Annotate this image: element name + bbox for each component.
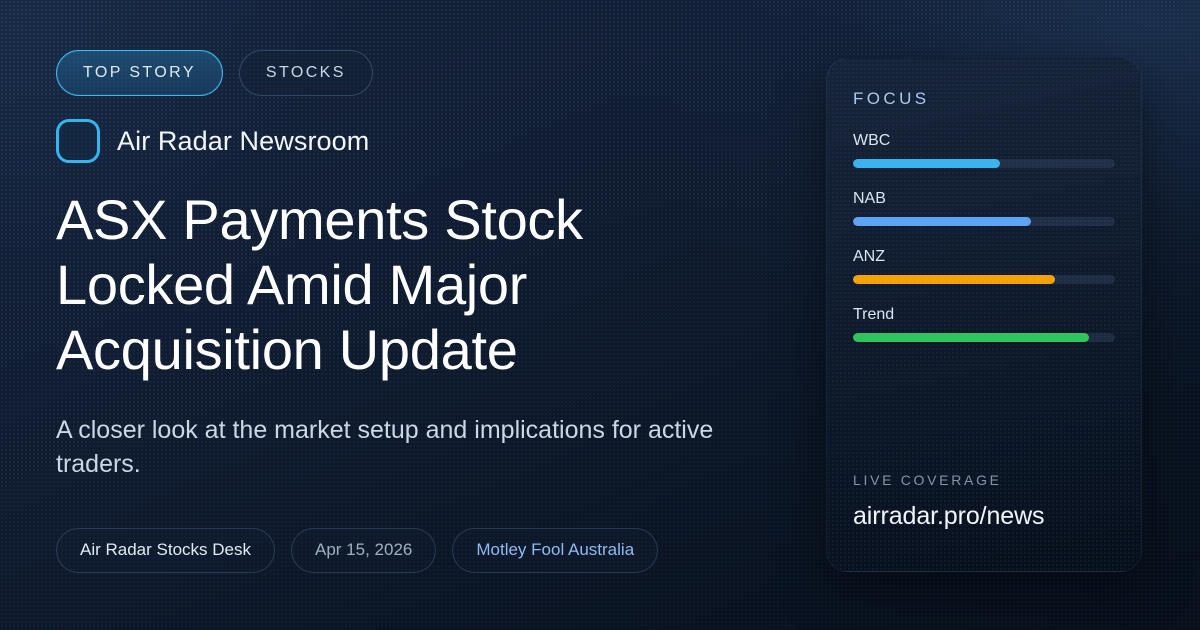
focus-bar-track-nab [853,217,1115,226]
focus-bar-fill-nab [853,217,1031,226]
left-content-column: TOP STORY STOCKS Air Radar Newsroom ASX … [56,50,776,573]
rounded-square-outline-icon [56,119,100,163]
social-card-canvas: TOP STORY STOCKS Air Radar Newsroom ASX … [0,0,1200,630]
focus-panel-title: FOCUS [853,89,1115,109]
chip-author[interactable]: Air Radar Stocks Desk [56,528,275,573]
focus-bar-track-wbc [853,159,1115,168]
focus-bar-fill-trend [853,333,1089,342]
badge-top-story[interactable]: TOP STORY [56,50,223,96]
focus-bar-row-wbc: WBC [853,132,1115,168]
site-url: airradar.pro/news [853,502,1115,531]
panel-footer: LIVE COVERAGE airradar.pro/news [853,472,1115,531]
chip-source[interactable]: Motley Fool Australia [452,528,658,573]
badge-row: TOP STORY STOCKS [56,50,776,96]
chip-source-label: Motley Fool Australia [476,540,634,560]
page-title: ASX Payments Stock Locked Amid Major Acq… [56,187,696,383]
badge-stocks[interactable]: STOCKS [239,50,373,96]
focus-panel: FOCUS WBC NAB ANZ [826,58,1142,572]
subtitle: A closer look at the market setup and im… [56,413,746,482]
chip-date-label: Apr 15, 2026 [315,540,412,560]
chip-date[interactable]: Apr 15, 2026 [291,528,436,573]
meta-chip-row: Air Radar Stocks Desk Apr 15, 2026 Motle… [56,528,776,573]
focus-bar-fill-anz [853,275,1055,284]
focus-bar-track-trend [853,333,1115,342]
brand-name: Air Radar Newsroom [117,126,369,157]
focus-bar-list: WBC NAB ANZ [853,132,1115,342]
focus-bar-row-trend: Trend [853,306,1115,342]
focus-bar-track-anz [853,275,1115,284]
focus-bar-row-nab: NAB [853,190,1115,226]
live-coverage-kicker: LIVE COVERAGE [853,472,1115,488]
focus-bar-label-wbc: WBC [853,132,1115,150]
chip-author-label: Air Radar Stocks Desk [80,540,251,560]
badge-top-story-label: TOP STORY [83,64,196,82]
focus-bar-label-anz: ANZ [853,248,1115,266]
brand-row: Air Radar Newsroom [56,119,776,163]
focus-bar-row-anz: ANZ [853,248,1115,284]
focus-bar-label-nab: NAB [853,190,1115,208]
focus-bar-label-trend: Trend [853,306,1115,324]
badge-stocks-label: STOCKS [266,64,346,82]
focus-bar-fill-wbc [853,159,1000,168]
